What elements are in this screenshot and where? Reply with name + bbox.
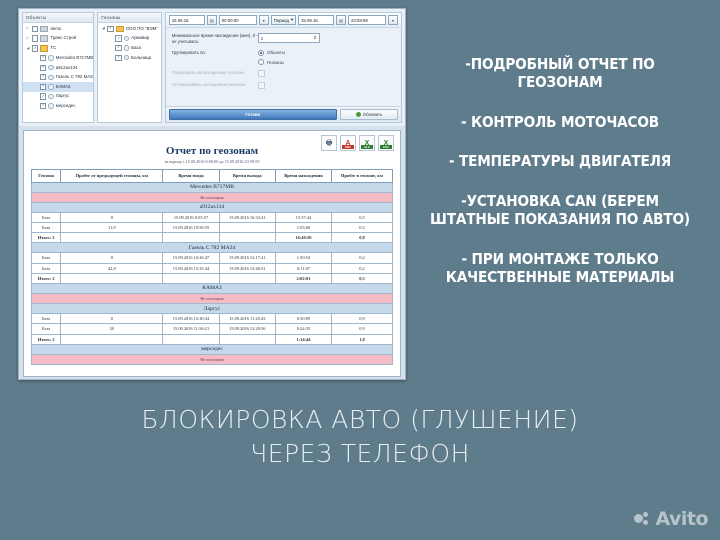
expander-spacer [34,56,38,60]
refresh-button[interactable]: Обновить [340,109,398,120]
expander-spacer [109,46,113,50]
report-cell: 2:02:01 [275,273,331,283]
checkbox[interactable]: ✓ [40,55,46,61]
radio-selected-icon [258,50,264,56]
checkbox[interactable]: ✓ [115,55,121,61]
report-cell [163,273,219,283]
object-node-label: Транс Строй [50,36,76,40]
report-cell: 0,2 [332,253,393,263]
geozones-tree[interactable]: ◢✓ООО ПО "ВЭМ"✓Армавир✓База✓Больница [98,23,160,122]
report-cell: 1:50:54 [275,253,331,263]
checkbox[interactable]: ✓ [40,84,46,90]
show-unvisited-label: Показывать непосещенные геозоны [172,70,258,76]
checkbox[interactable] [32,35,38,41]
csv-export-icon[interactable]: XCSV [378,135,394,151]
group-by-row: Группировать по: Объекты Геозоны [172,50,395,66]
report-cell [219,334,275,344]
avito-watermark: Avito [634,508,708,530]
report-cell: 0,3 [332,223,393,233]
report-total-row: Итого: 22:02:010,5 [32,273,393,283]
refresh-icon [356,112,361,117]
checkbox[interactable]: ✓ [32,45,38,51]
report-cell [219,223,275,233]
report-group-row: Ларгус [32,304,393,314]
report-options: Минимальное время нахождения (мин), 0 - … [166,28,401,106]
report-cell [61,273,163,283]
checkbox[interactable]: ✓ [40,93,46,99]
caption-line-2: ЧЕРЕЗ ТЕЛЕФОН [0,437,720,471]
empty-label: Не посещена [32,293,393,303]
report-cell: 15.09.2016 10:30:34 [163,314,219,324]
geozone-node-label: Больница [131,56,151,60]
object-node-label: КАМАЗ [56,85,71,89]
report-column-header: Пробег в геозоне, км [332,170,393,183]
expander-icon[interactable]: ▷ [26,27,30,31]
table-row: База11,915.09.2016 19:50:551:03:060,3 [32,223,393,233]
report-cell: 0 [61,253,163,263]
geozone-node[interactable]: ✓База [98,43,160,53]
report-cell: 1:14:44 [275,334,331,344]
done-button[interactable]: Готово [169,109,337,120]
object-node-label: Газель С 782 МА34 [56,75,94,79]
period-select[interactable]: Период ▾ [271,15,296,25]
time-to-dropdown-icon[interactable]: ▾ [388,15,398,25]
report-cell: 15.09.2016 15:46:51 [219,263,275,273]
radio-group-objects-label: Объекты [267,50,285,55]
report-cell: 20 [61,324,163,334]
geozone-report-table: ГеозонаПробег от предыдущей геозоны, кмВ… [31,169,393,365]
node-bullet-icon [48,84,53,89]
report-cell: 0,9 [332,324,393,334]
expander-spacer [34,66,38,70]
object-node[interactable]: ✓КАМАЗ [23,82,93,92]
min-stay-value: 1 [261,36,263,41]
report-cell: 15.09.2016 11:56:21 [163,324,219,334]
report-table-body: Mercedes В717МВНе посещенаа912ах134База0… [32,182,393,364]
report-total-row: Итого: 216:40:500,8 [32,233,393,243]
checkbox[interactable] [32,26,38,32]
radio-group-geozones[interactable]: Геозоны [258,59,285,65]
report-cell: База [32,223,61,233]
report-cell: База [32,212,61,222]
expander-icon[interactable]: ◢ [26,46,30,50]
geozones-panel: Геозоны ◢✓ООО ПО "ВЭМ"✓Армавир✓База✓Боль… [97,12,161,123]
date-range-toolbar: 15.09.16 ▤ 00:00:00 ▾ Период ▾ 15.09.16 … [166,13,401,28]
stepper-arrows-icon: ⇕ [313,35,317,41]
expander-spacer [109,56,113,60]
hide-visited-label: Не показывать посещенные геозоны [172,82,258,88]
object-node[interactable]: ✓Ларгус [23,92,93,102]
report-cell: 0,2 [332,263,393,273]
hide-visited-checkbox[interactable] [258,82,265,89]
report-cell: 0,9 [332,314,393,324]
report-cell: 0:24:35 [275,324,331,334]
group-by-radios: Объекты Геозоны [258,50,285,66]
node-bullet-icon [124,36,129,41]
checkbox[interactable]: ✓ [40,103,46,109]
group-label: Ларгус [32,304,393,314]
time-from-input[interactable]: 00:00:00 [219,15,257,25]
calendar-to-icon[interactable]: ▤ [336,15,346,25]
report-column-header: Время входа [163,170,219,183]
report-cell: 0,5 [332,273,393,283]
date-to-input[interactable]: 15.09.16 [298,15,334,25]
report-cell: 15:37:44 [275,212,331,222]
node-bullet-icon [124,45,129,50]
min-stay-row: Минимальное время нахождения (мин), 0 - … [172,33,395,45]
period-select-label: Период [274,18,289,23]
marketing-line: - КОНТРОЛЬ МОТОЧАСОВ [426,114,694,132]
report-total-row: Итого: 21:14:441,8 [32,334,393,344]
objects-panel: Объекты ▷demo▷Транс Строй◢✓ТС✓Mercedes В… [22,12,94,123]
report-cell: 15.09.2016 16:33:41 [219,212,275,222]
table-row: База2015.09.2016 11:56:2115.09.2016 12:2… [32,324,393,334]
report-cell: 15.09.2016 0:55:57 [163,212,219,222]
show-unvisited-row: Показывать непосещенные геозоны [172,70,395,77]
group-label: Газель С 782 МА34 [32,243,393,253]
export-format-tag: CSV [380,145,392,149]
radio-group-objects[interactable]: Объекты [258,50,285,56]
object-node-label: Ларгус [56,94,70,98]
checkbox[interactable]: ✓ [115,35,121,41]
report-column-header: Геозона [32,170,61,183]
group-label: а912ах134 [32,202,393,212]
min-stay-stepper[interactable]: 1 ⇕ [258,33,320,43]
table-row: База42,815.09.2016 15:35:4415.09.2016 15… [32,263,393,273]
report-cell [219,273,275,283]
object-node[interactable]: ✓Mercedes В717МВ [23,53,93,63]
folder-icon [116,26,124,33]
objects-panel-header: Объекты [23,13,93,23]
radio-group-geozones-label: Геозоны [267,60,284,65]
min-stay-label: Минимальное время нахождения (мин), 0 - … [172,33,258,45]
marketing-line: - ТЕМПЕРАТУРЫ ДВИГАТЕЛЯ [426,153,694,171]
screenshot-stage: Объекты ▷demo▷Транс Строй◢✓ТС✓Mercedes В… [0,0,720,540]
expander-spacer [34,104,38,108]
report-group-row: мерседес [32,344,393,354]
hide-visited-row: Не показывать посещенные геозоны [172,82,395,89]
geozone-node-label: ООО ПО "ВЭМ" [126,27,158,31]
node-bullet-icon [48,103,53,108]
report-cell [219,233,275,243]
chevron-down-icon: ▾ [291,17,293,23]
expander-spacer [34,75,38,79]
geozone-node[interactable]: ◢✓ООО ПО "ВЭМ" [98,24,160,34]
report-cell: 1:03:06 [275,223,331,233]
report-cell: База [32,324,61,334]
checkbox[interactable]: ✓ [40,74,46,80]
report-cell: База [32,314,61,324]
report-cell: 42,8 [61,263,163,273]
geozone-node[interactable]: ✓Больница [98,53,160,63]
report-document: 🖶APDFXXLSXCSV Отчет по геозонам за перио… [23,130,401,377]
refresh-button-label: Обновить [363,112,382,117]
report-cell [163,334,219,344]
expander-icon[interactable]: ◢ [101,27,105,31]
bottom-caption: БЛОКИРОВКА АВТО (ГЛУШЕНИЕ) ЧЕРЕЗ ТЕЛЕФОН [0,403,720,471]
object-node[interactable]: ✓а912ах134 [23,63,93,73]
node-bullet-icon [48,65,53,70]
report-settings-panel: 15.09.16 ▤ 00:00:00 ▾ Период ▾ 15.09.16 … [165,12,402,123]
checkbox[interactable]: ✓ [40,65,46,71]
marketing-copy: -ПОДРОБНЫЙ ОТЧЕТ ПО ГЕОЗОНАМ- КОНТРОЛЬ М… [408,56,712,287]
object-node-label: мерседес [56,104,76,108]
export-glyph: 🖶 [326,140,333,147]
time-from-dropdown-icon[interactable]: ▾ [259,15,269,25]
report-cell: Итого: 2 [32,334,61,344]
report-column-header: Время выхода [219,170,275,183]
group-label: КАМАЗ [32,283,393,293]
report-table-head: ГеозонаПробег от предыдущей геозоны, кмВ… [32,170,393,183]
xls-export-icon[interactable]: XXLS [359,135,375,151]
report-cell [163,233,219,243]
object-node-label: demo [50,27,61,31]
report-cell: Итого: 2 [32,273,61,283]
report-group-row: Газель С 782 МА34 [32,243,393,253]
checkbox[interactable]: ✓ [107,26,113,32]
report-group-row: КАМАЗ [32,283,393,293]
folder-icon [40,26,48,33]
settings-actions: Готово Обновить [166,106,401,122]
report-cell [61,233,163,243]
report-empty-row: Не посещена [32,192,393,202]
empty-label: Не посещена [32,354,393,364]
group-label: Mercedes В717МВ [32,182,393,192]
report-header-row: ГеозонаПробег от предыдущей геозоны, кмВ… [32,170,393,183]
empty-label: Не посещена [32,192,393,202]
object-node-label: ТС [50,46,56,50]
report-group-row: Mercedes В717МВ [32,182,393,192]
report-cell: 0:11:07 [275,263,331,273]
avito-logo-icon [634,512,651,526]
radio-empty-icon [258,59,264,65]
object-node[interactable]: ▷Транс Строй [23,34,93,44]
expander-spacer [109,37,113,41]
expander-spacer [34,85,38,89]
marketing-line: -УСТАНОВКА CAN (БЕРЕМ ШТАТНЫЕ ПОКАЗАНИЯ … [426,193,694,229]
report-area: 🖶APDFXXLSXCSV Отчет по геозонам за перио… [19,126,405,379]
object-node[interactable]: ▷demo [23,24,93,34]
time-to-input[interactable]: 23:59:59 [348,15,386,25]
marketing-line: -ПОДРОБНЫЙ ОТЧЕТ ПО ГЕОЗОНАМ [426,56,694,92]
export-format-tag: PDF [342,145,354,149]
object-node[interactable]: ◢✓ТС [23,44,93,54]
report-cell: 0 [61,212,163,222]
objects-tree[interactable]: ▷demo▷Транс Строй◢✓ТС✓Mercedes В717МВ✓а9… [23,23,93,122]
report-cell: 0 [61,314,163,324]
report-cell: 1,8 [332,334,393,344]
group-label: мерседес [32,344,393,354]
report-column-header: Время нахождения [275,170,331,183]
group-by-label: Группировать по: [172,50,258,56]
report-cell: 15.09.2016 12:17:41 [219,253,275,263]
marketing-line: - ПРИ МОНТАЖЕ ТОЛЬКО КАЧЕСТВЕННЫЕ МАТЕРИ… [426,251,694,287]
geozone-node-label: Армавир [131,36,149,40]
report-cell: 0,8 [332,233,393,243]
node-bullet-icon [48,75,53,80]
report-group-row: а912ах134 [32,202,393,212]
avito-wordmark: Avito [655,508,708,530]
folder-icon [40,35,48,42]
report-cell: База [32,263,61,273]
node-bullet-icon [48,94,53,99]
object-node[interactable]: ✓Газель С 782 МА34 [23,73,93,83]
geozone-node[interactable]: ✓Армавир [98,34,160,44]
export-toolbar: 🖶APDFXXLSXCSV [321,135,394,151]
report-cell: 0,5 [332,212,393,222]
calendar-from-icon[interactable]: ▤ [207,15,217,25]
report-cell: 16:40:50 [275,233,331,243]
node-bullet-icon [48,55,53,60]
report-empty-row: Не посещена [32,354,393,364]
object-node-label: а912ах134 [56,66,78,70]
report-period-subtitle: за период с 15.09.2016 0:00:00 до 15.09.… [24,157,400,169]
report-column-header: Пробег от предыдущей геозоны, км [61,170,163,183]
table-row: База015.09.2016 10:30:3415.09.2016 11:20… [32,314,393,324]
export-format-tag: XLS [361,145,373,149]
report-cell: 15.09.2016 11:20:43 [219,314,275,324]
expander-icon[interactable]: ▷ [26,37,30,41]
report-cell: База [32,253,61,263]
report-cell: 15.09.2016 19:50:55 [163,223,219,233]
report-cell [61,334,163,344]
checkbox[interactable]: ✓ [115,45,121,51]
object-node[interactable]: ✓мерседес [23,101,93,111]
show-unvisited-checkbox[interactable] [258,70,265,77]
tracking-app-window: Объекты ▷demo▷Транс Строй◢✓ТС✓Mercedes В… [18,8,406,380]
folder-icon [40,45,48,52]
object-node-label: Mercedes В717МВ [56,56,93,60]
node-bullet-icon [124,55,129,60]
geozones-panel-header: Геозоны [98,13,160,23]
filters-area: Объекты ▷demo▷Транс Строй◢✓ТС✓Mercedes В… [19,9,405,126]
expander-spacer [34,94,38,98]
report-cell: 0:50:09 [275,314,331,324]
table-row: База015.09.2016 10:26:4715.09.2016 12:17… [32,253,393,263]
date-from-input[interactable]: 15.09.16 [169,15,205,25]
geozone-node-label: База [131,46,141,50]
caption-line-1: БЛОКИРОВКА АВТО (ГЛУШЕНИЕ) [0,403,720,437]
pdf-export-icon[interactable]: APDF [340,135,356,151]
report-cell: 15.09.2016 15:35:44 [163,263,219,273]
report-cell: 11,9 [61,223,163,233]
report-cell: Итого: 2 [32,233,61,243]
report-cell: 15.09.2016 10:26:47 [163,253,219,263]
report-empty-row: Не посещена [32,293,393,303]
table-row: База015.09.2016 0:55:5715.09.2016 16:33:… [32,212,393,222]
print-icon[interactable]: 🖶 [321,135,337,151]
report-cell: 15.09.2016 12:20:56 [219,324,275,334]
